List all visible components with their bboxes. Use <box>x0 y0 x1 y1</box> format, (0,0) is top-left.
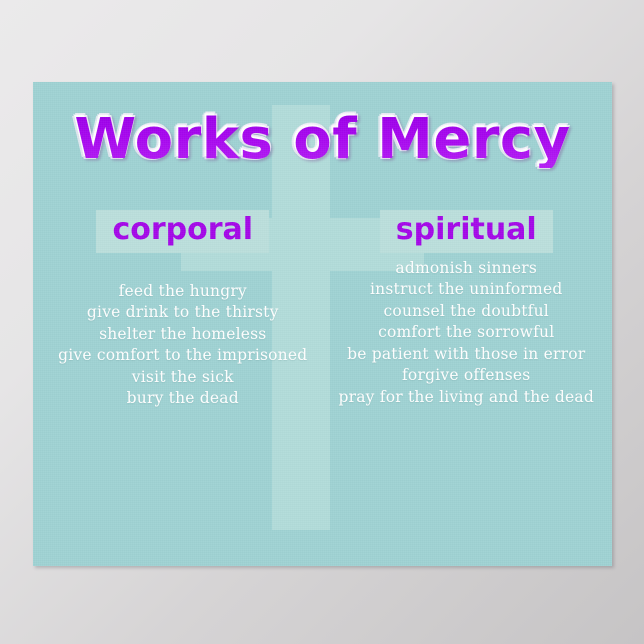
column-spiritual: spiritual admonish sinners instruct the … <box>325 210 613 410</box>
column-corporal: corporal feed the hungry give drink to t… <box>33 210 325 410</box>
list-item: counsel the doubtful <box>339 301 594 323</box>
list-item: give comfort to the imprisoned <box>58 345 307 367</box>
list-item: bury the dead <box>58 388 307 410</box>
list-item: visit the sick <box>58 367 307 389</box>
heading-box-spiritual: spiritual <box>380 210 553 253</box>
works-list-corporal: feed the hungry give drink to the thirst… <box>58 281 307 410</box>
list-item: give drink to the thirsty <box>58 302 307 324</box>
column-heading-corporal: corporal <box>112 213 253 248</box>
list-item: admonish sinners <box>339 258 594 280</box>
list-item: pray for the living and the dead <box>339 387 594 409</box>
list-item: shelter the homeless <box>58 324 307 346</box>
heading-box-corporal: corporal <box>96 210 269 253</box>
poster-title: Works of Mercy <box>33 112 612 168</box>
list-item: instruct the uninformed <box>339 279 594 301</box>
list-item: forgive offenses <box>339 365 594 387</box>
list-item: feed the hungry <box>58 281 307 303</box>
column-heading-spiritual: spiritual <box>396 213 537 248</box>
works-list-spiritual: admonish sinners instruct the uninformed… <box>339 258 594 409</box>
works-columns: corporal feed the hungry give drink to t… <box>33 210 612 410</box>
list-item: comfort the sorrowful <box>339 322 594 344</box>
list-item: be patient with those in error <box>339 344 594 366</box>
poster-canvas: Works of Mercy corporal feed the hungry … <box>33 82 612 566</box>
